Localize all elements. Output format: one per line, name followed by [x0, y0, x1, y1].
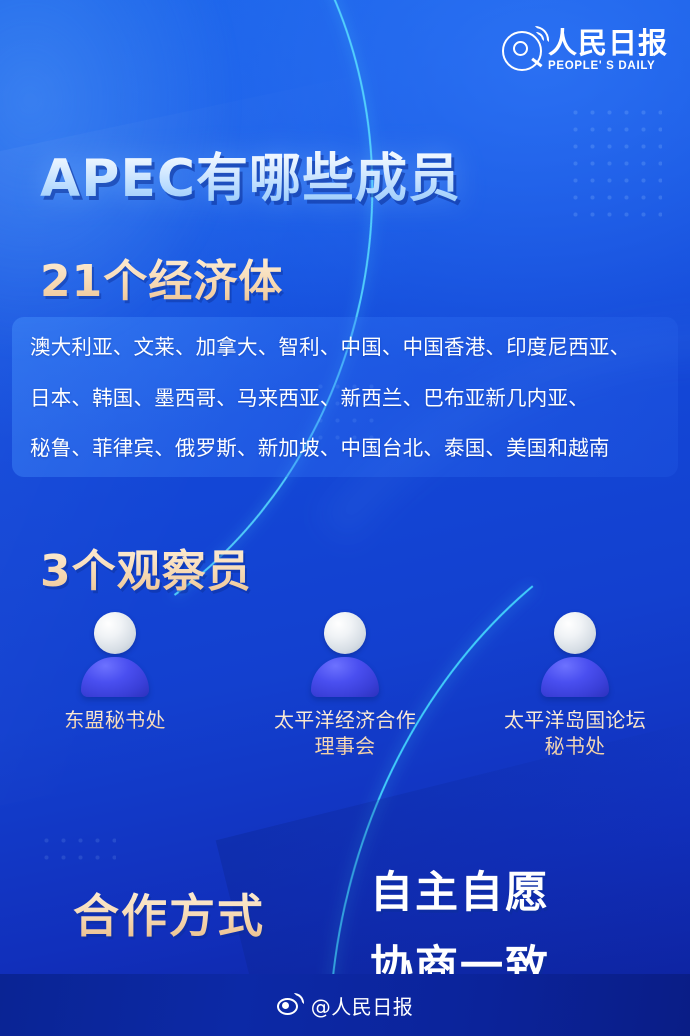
observer-item: 太平洋经济合作 理事会 [240, 612, 450, 760]
observer-item: 太平洋岛国论坛 秘书处 [470, 612, 680, 760]
weibo-icon [277, 995, 303, 1016]
masthead-name-en: PEOPLE' S DAILY [548, 60, 655, 72]
cooperation-label: 合作方式 [73, 880, 265, 946]
economies-line: 澳大利亚、文莱、加拿大、智利、中国、中国香港、印度尼西亚、 [30, 337, 660, 358]
footer-handle: @人民日报 [311, 991, 414, 1020]
person-icon [77, 612, 153, 696]
page-title: APEC有哪些成员 [40, 136, 461, 211]
observer-label: 太平洋岛国论坛 秘书处 [504, 707, 646, 760]
economies-line: 秘鲁、菲律宾、俄罗斯、新加坡、中国台北、泰国、美国和越南 [30, 438, 660, 459]
observer-label: 东盟秘书处 [64, 707, 166, 733]
dot-grid-right [567, 104, 662, 229]
cooperation-value: 自主自愿 [370, 858, 550, 920]
person-icon [307, 612, 383, 696]
footer-bar: @人民日报 [0, 974, 690, 1036]
masthead-name-cn: 人民日报 [548, 28, 668, 58]
poster-root: 人民日报 PEOPLE' S DAILY APEC有哪些成员 21个经济体 澳大… [0, 0, 690, 1036]
observer-item: 东盟秘书处 [10, 612, 220, 733]
cooperation-section: 合作方式 自主自愿 协商一致 [0, 858, 690, 978]
observers-list: 东盟秘书处 太平洋经济合作 理事会 太平洋岛国论坛 秘书处 [0, 612, 690, 760]
economies-line: 日本、韩国、墨西哥、马来西亚、新西兰、巴布亚新几内亚、 [30, 388, 660, 409]
observers-heading: 3个观察员 [40, 535, 252, 599]
at-sign-icon [502, 31, 542, 71]
economies-panel: 澳大利亚、文莱、加拿大、智利、中国、中国香港、印度尼西亚、 日本、韩国、墨西哥、… [12, 317, 678, 477]
masthead-logo: 人民日报 PEOPLE' S DAILY [502, 28, 668, 72]
economies-heading: 21个经济体 [40, 245, 283, 309]
person-icon [537, 612, 613, 696]
observer-label: 太平洋经济合作 理事会 [274, 707, 416, 760]
